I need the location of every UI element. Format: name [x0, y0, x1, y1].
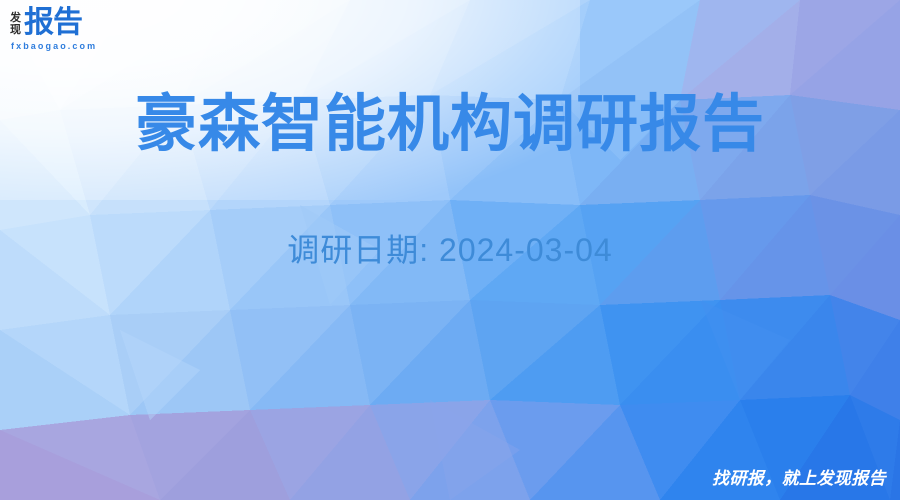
logo-wordmark-row: 发 现 报告 — [10, 8, 97, 38]
slogan-watermark: 找研报，就上发现报告 — [712, 468, 886, 490]
logo-stack-top: 发 — [10, 12, 21, 24]
brand-logo[interactable]: 发 现 报告 fxbaogao.com — [10, 8, 97, 51]
logo-main-text: 报告 — [24, 8, 82, 38]
logo-stacked-characters: 发 现 — [10, 12, 21, 38]
logo-domain-text: fxbaogao.com — [11, 41, 97, 51]
survey-date-subtitle: 调研日期: 2024-03-04 — [0, 228, 900, 272]
report-cover-slide: 发 现 报告 fxbaogao.com 豪森智能机构调研报告 调研日期: 202… — [0, 0, 900, 500]
page-title: 豪森智能机构调研报告 — [0, 88, 900, 162]
logo-stack-bottom: 现 — [10, 24, 21, 36]
